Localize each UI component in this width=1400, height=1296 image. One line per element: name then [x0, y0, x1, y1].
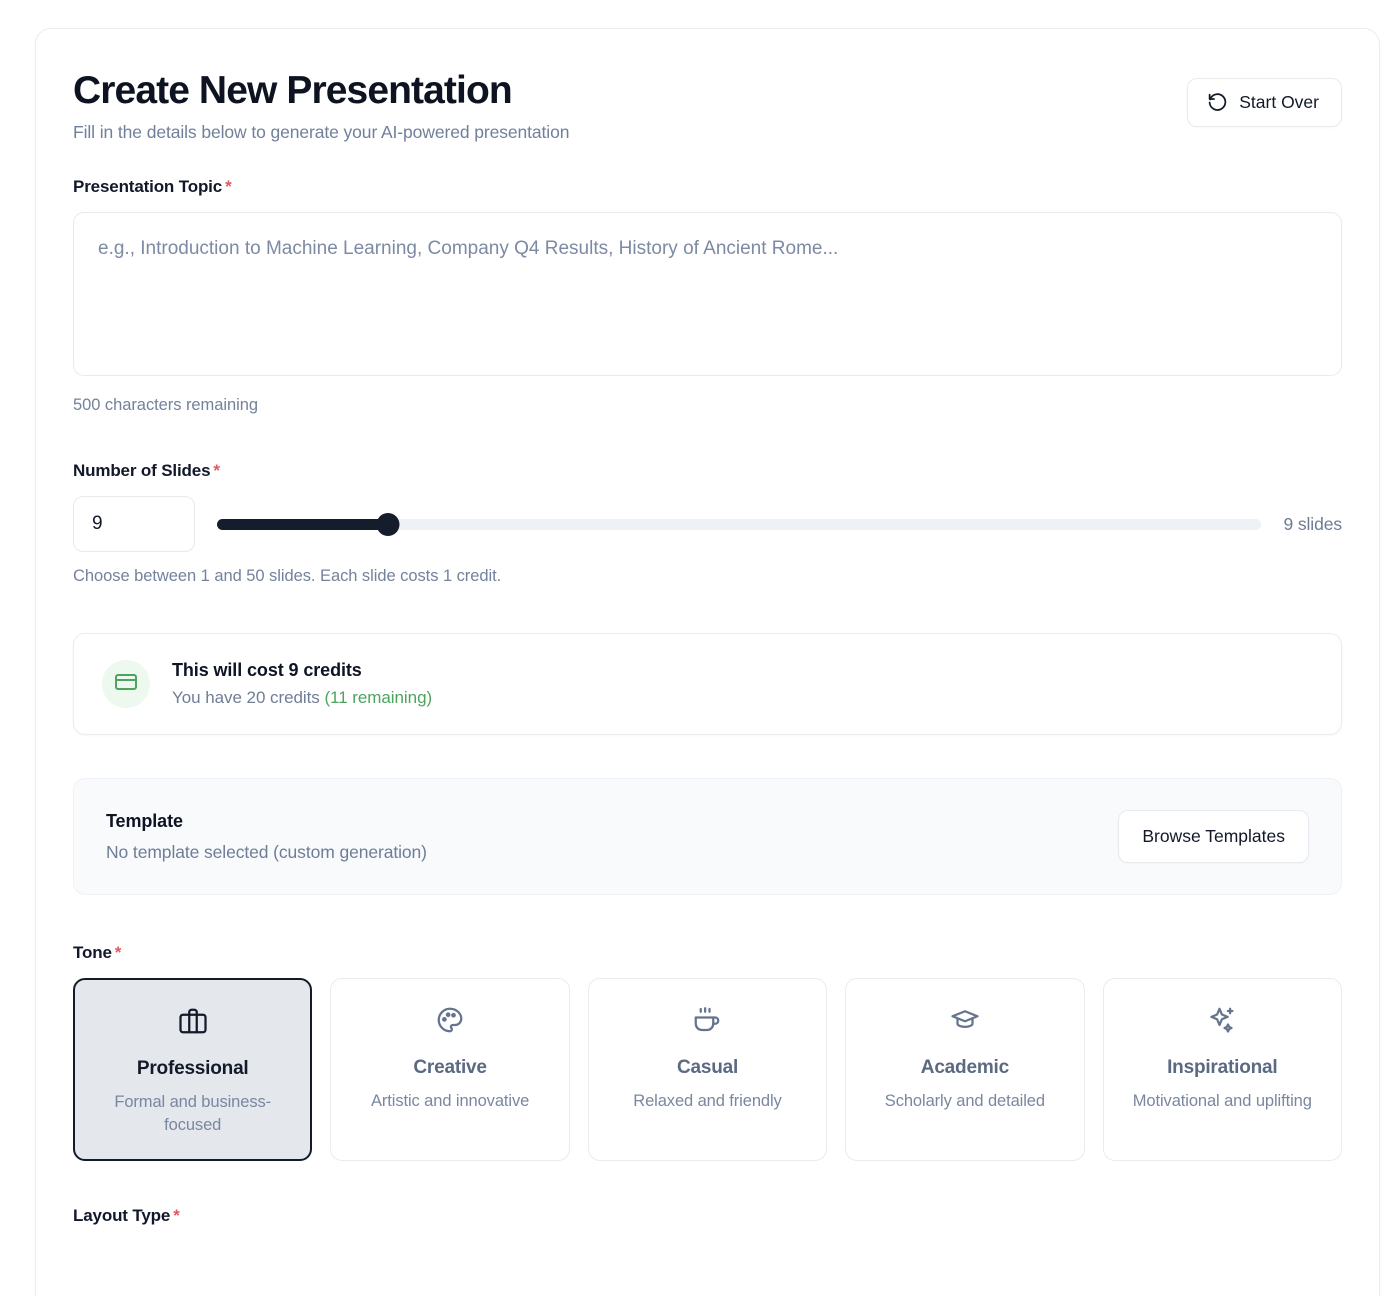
slides-required-marker: *: [213, 461, 219, 480]
slides-helper-text: Choose between 1 and 50 slides. Each sli…: [73, 567, 1342, 586]
layout-type-section: Layout Type*: [73, 1206, 1342, 1226]
browse-templates-button[interactable]: Browse Templates: [1118, 810, 1309, 863]
rotate-ccw-icon: [1207, 92, 1228, 113]
credits-cost-line: This will cost 9 credits: [172, 660, 432, 681]
slides-label: Number of Slides*: [73, 461, 1342, 481]
credits-info-box: This will cost 9 credits You have 20 cre…: [73, 633, 1342, 735]
credits-remaining: (11 remaining): [324, 688, 432, 707]
page-subtitle: Fill in the details below to generate yo…: [73, 122, 569, 143]
create-presentation-card: Create New Presentation Fill in the deta…: [35, 28, 1380, 1296]
slides-section: Number of Slides* 9 slides Choose betwee…: [73, 461, 1342, 586]
slides-control-row: 9 slides: [73, 496, 1342, 552]
tone-option-name: Creative: [413, 1057, 486, 1079]
tone-option-description: Motivational and uplifting: [1133, 1090, 1312, 1112]
sparkles-icon: [1207, 1005, 1237, 1040]
tone-option-description: Scholarly and detailed: [885, 1090, 1045, 1112]
layout-type-label: Layout Type*: [73, 1206, 1342, 1226]
template-title: Template: [106, 811, 427, 832]
graduation-cap-icon: [950, 1005, 980, 1040]
topic-required-marker: *: [225, 177, 231, 196]
tone-label: Tone*: [73, 943, 1342, 963]
slider-thumb[interactable]: [376, 513, 399, 536]
slider-fill: [217, 519, 388, 530]
slides-label-text: Number of Slides: [73, 461, 210, 480]
start-over-label: Start Over: [1239, 92, 1319, 113]
tone-option-name: Casual: [677, 1057, 738, 1079]
topic-label-text: Presentation Topic: [73, 177, 222, 196]
page-title: Create New Presentation: [73, 69, 569, 113]
topic-input[interactable]: [73, 212, 1342, 376]
credits-cost-prefix: This will cost: [172, 660, 289, 680]
template-section: Template No template selected (custom ge…: [73, 778, 1342, 895]
tone-option-casual[interactable]: CasualRelaxed and friendly: [588, 978, 827, 1161]
template-text-group: Template No template selected (custom ge…: [106, 811, 427, 863]
create-presentation-page: Create New Presentation Fill in the deta…: [0, 0, 1400, 1296]
credits-balance-line: You have 20 credits (11 remaining): [172, 688, 432, 708]
start-over-button[interactable]: Start Over: [1187, 78, 1342, 127]
palette-icon: [435, 1005, 465, 1040]
tone-options-grid: ProfessionalFormal and business-focusedC…: [73, 978, 1342, 1161]
topic-label: Presentation Topic*: [73, 177, 1342, 197]
tone-section: Tone* ProfessionalFormal and business-fo…: [73, 943, 1342, 1161]
topic-section: Presentation Topic* 500 characters remai…: [73, 177, 1342, 415]
tone-option-creative[interactable]: CreativeArtistic and innovative: [330, 978, 569, 1161]
credit-icon-wrapper: [102, 660, 150, 708]
tone-option-description: Formal and business-focused: [89, 1091, 296, 1136]
page-header: Create New Presentation Fill in the deta…: [73, 69, 1342, 143]
credit-card-icon: [114, 670, 138, 699]
slides-count-label: 9 slides: [1283, 514, 1342, 535]
tone-option-inspirational[interactable]: InspirationalMotivational and uplifting: [1103, 978, 1342, 1161]
slides-number-input[interactable]: [73, 496, 195, 552]
credits-text-group: This will cost 9 credits You have 20 cre…: [172, 660, 432, 708]
tone-option-academic[interactable]: AcademicScholarly and detailed: [845, 978, 1084, 1161]
topic-character-counter: 500 characters remaining: [73, 396, 1342, 415]
briefcase-icon: [178, 1006, 208, 1041]
slides-slider[interactable]: [217, 513, 1261, 535]
tone-option-professional[interactable]: ProfessionalFormal and business-focused: [73, 978, 312, 1161]
tone-option-name: Inspirational: [1167, 1057, 1277, 1079]
tone-option-name: Academic: [921, 1057, 1009, 1079]
credits-cost-amount: 9 credits: [289, 660, 362, 680]
tone-option-name: Professional: [137, 1058, 249, 1080]
layout-required-marker: *: [173, 1206, 179, 1225]
layout-type-label-text: Layout Type: [73, 1206, 170, 1225]
header-text-group: Create New Presentation Fill in the deta…: [73, 69, 569, 143]
template-status: No template selected (custom generation): [106, 842, 427, 863]
tone-required-marker: *: [115, 943, 121, 962]
coffee-cup-icon: [692, 1005, 722, 1040]
credits-balance-prefix: You have 20 credits: [172, 688, 324, 707]
tone-option-description: Relaxed and friendly: [633, 1090, 781, 1112]
tone-label-text: Tone: [73, 943, 112, 962]
tone-option-description: Artistic and innovative: [371, 1090, 529, 1112]
